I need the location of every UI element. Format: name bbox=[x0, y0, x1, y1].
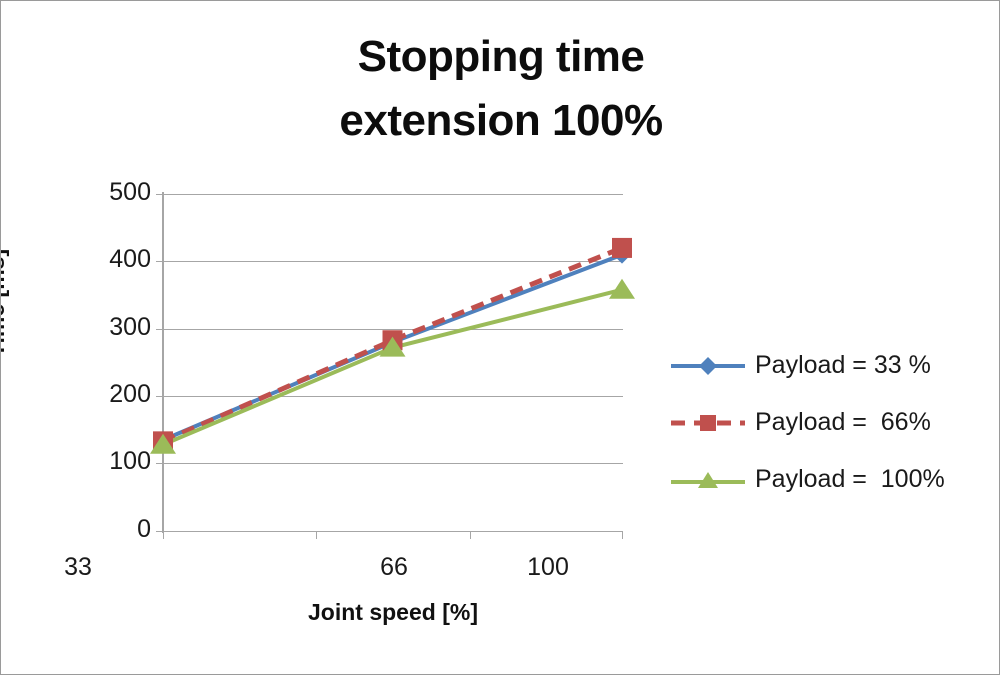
x-tick-mark bbox=[316, 531, 317, 539]
x-axis-line bbox=[163, 531, 623, 532]
y-tick-mark bbox=[156, 261, 163, 262]
legend-item-payload-100[interactable]: Payload = 100% bbox=[669, 451, 989, 508]
y-tick-label: 0 bbox=[81, 515, 151, 544]
legend-label: Payload = 33 % bbox=[747, 351, 931, 380]
y-tick-label: 200 bbox=[81, 380, 151, 409]
y-tick-label: 400 bbox=[81, 245, 151, 274]
series-line-3 bbox=[163, 290, 622, 445]
y-tick-label: 100 bbox=[81, 447, 151, 476]
data-point-marker-s2-100 bbox=[612, 238, 632, 258]
x-axis-title: Joint speed [%] bbox=[163, 599, 623, 626]
y-tick-label: 500 bbox=[81, 178, 151, 207]
chart-screenshot: Stopping time extension 100% Time [ms] 5… bbox=[0, 0, 1000, 675]
y-tick-mark bbox=[156, 463, 163, 464]
x-tick-label: 100 bbox=[493, 553, 603, 582]
x-tick-label: 66 bbox=[339, 553, 449, 582]
y-axis-tick-labels: 500 400 300 200 100 0 bbox=[73, 194, 151, 531]
chart-title: Stopping time extension 100% bbox=[1, 25, 1000, 153]
chart-title-line-2: extension 100% bbox=[1, 89, 1000, 153]
legend-marker-diamond-icon bbox=[669, 353, 747, 379]
y-tick-mark bbox=[156, 531, 163, 532]
legend-label: Payload = 100% bbox=[747, 465, 945, 494]
y-tick-mark bbox=[156, 194, 163, 195]
legend-item-payload-66[interactable]: Payload = 66% bbox=[669, 394, 989, 451]
legend-marker-triangle-icon bbox=[669, 467, 747, 493]
x-tick-mark bbox=[470, 531, 471, 539]
y-tick-mark bbox=[156, 329, 163, 330]
chart-legend: Payload = 33 % Payload = 66% Payload = 1… bbox=[669, 337, 989, 508]
y-tick-label: 300 bbox=[81, 313, 151, 342]
data-point-marker-s3-100 bbox=[609, 279, 635, 299]
y-axis-title: Time [ms] bbox=[0, 213, 10, 393]
legend-item-payload-33[interactable]: Payload = 33 % bbox=[669, 337, 989, 394]
legend-marker-square-icon bbox=[669, 410, 747, 436]
x-tick-mark bbox=[622, 531, 623, 539]
plot-area bbox=[163, 194, 623, 531]
series-plot bbox=[163, 194, 623, 531]
x-tick-label: 33 bbox=[23, 553, 133, 582]
y-tick-mark bbox=[156, 396, 163, 397]
x-tick-mark bbox=[163, 531, 164, 539]
chart-title-line-1: Stopping time bbox=[1, 25, 1000, 89]
legend-label: Payload = 66% bbox=[747, 408, 931, 437]
